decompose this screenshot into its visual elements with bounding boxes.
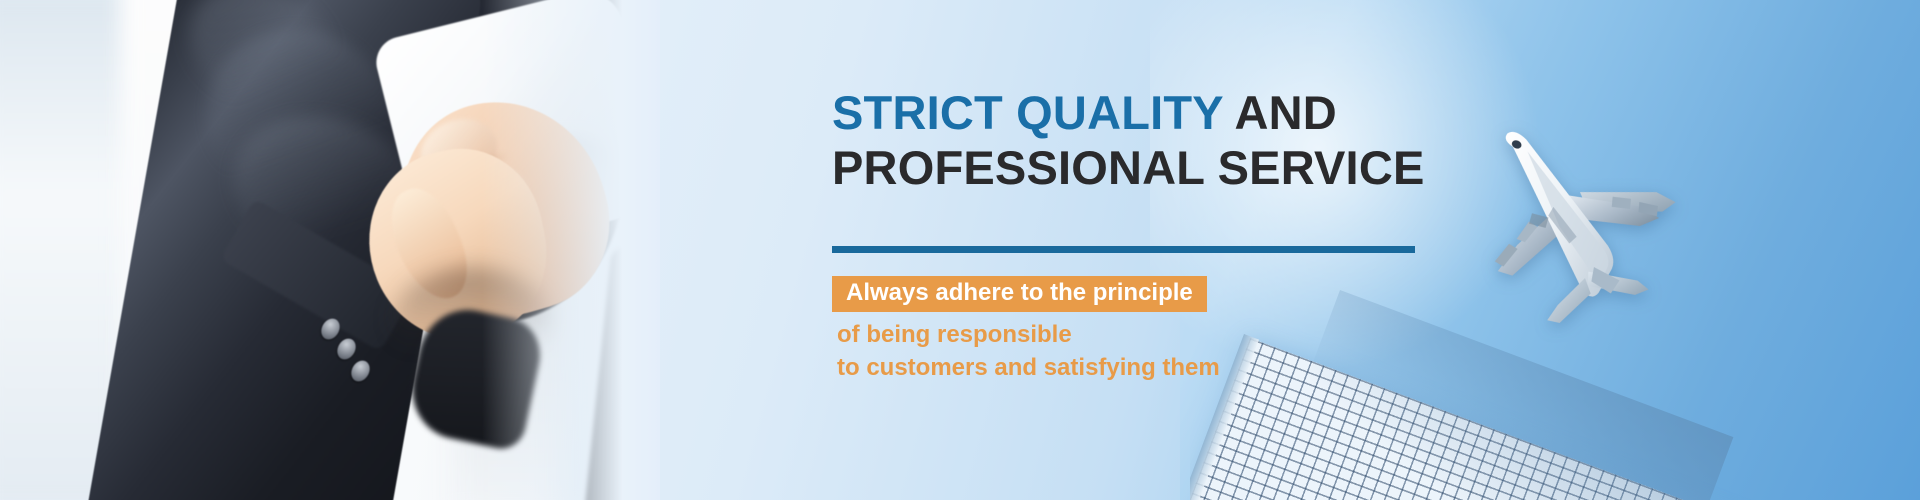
tagline-line-3: to customers and satisfying them	[837, 355, 1220, 381]
headline-divider	[832, 246, 1415, 253]
handshake-photo	[0, 0, 660, 500]
headline-line-1: STRICT QUALITY AND	[832, 86, 1425, 141]
tagline-line-2: of being responsible	[837, 322, 1072, 348]
headline-accent-text: STRICT QUALITY	[832, 86, 1223, 139]
photo-edge-fade	[482, 0, 660, 500]
banner-headline: STRICT QUALITY AND PROFESSIONAL SERVICE	[832, 86, 1425, 196]
promo-banner: STRICT QUALITY AND PROFESSIONAL SERVICE …	[0, 0, 1920, 500]
airplane-photo	[1451, 84, 1714, 338]
airplane-icon	[1451, 84, 1714, 338]
banner-content: STRICT QUALITY AND PROFESSIONAL SERVICE …	[832, 0, 1472, 500]
tagline-line-1: Always adhere to the principle	[832, 276, 1207, 312]
headline-line-2: PROFESSIONAL SERVICE	[832, 141, 1425, 196]
headline-plain-text: AND	[1223, 86, 1337, 139]
